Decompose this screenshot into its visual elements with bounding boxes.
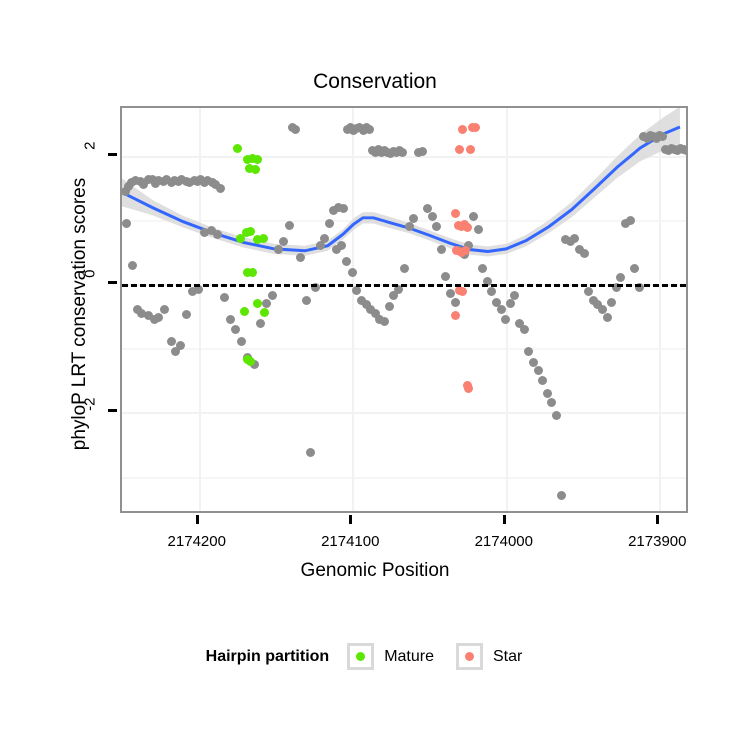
legend-dot-star	[465, 652, 474, 661]
y-axis-label: phyloP LRT conservation scores	[69, 104, 91, 524]
legend: Hairpin partition Mature Star	[0, 643, 750, 670]
data-point-other	[296, 253, 305, 262]
data-point-other	[630, 264, 639, 273]
data-point-other	[557, 491, 566, 500]
data-point-other	[320, 234, 329, 243]
data-point-mature	[240, 307, 249, 316]
data-point-mature	[259, 234, 268, 243]
data-point-star	[471, 123, 480, 132]
gridline-x-major	[199, 108, 201, 511]
x-tick-label: 2173900	[597, 533, 717, 550]
data-point-other	[478, 264, 487, 273]
data-point-other	[607, 298, 616, 307]
x-tick-mark	[196, 515, 199, 524]
y-tick-mark	[108, 281, 117, 284]
data-point-other	[285, 221, 294, 230]
data-point-other	[231, 325, 240, 334]
data-point-other	[418, 147, 427, 156]
data-point-other	[385, 302, 394, 311]
data-point-mature	[248, 268, 257, 277]
data-point-other	[268, 291, 277, 300]
y-tick-mark	[108, 153, 117, 156]
data-point-other	[543, 389, 552, 398]
zero-reference-line	[122, 284, 686, 287]
data-point-other	[487, 287, 496, 296]
data-point-other	[405, 222, 414, 231]
data-point-other	[262, 299, 271, 308]
data-point-star	[461, 246, 470, 255]
data-point-other	[339, 204, 348, 213]
data-point-other	[510, 291, 519, 300]
data-point-other	[474, 225, 483, 234]
data-point-other	[279, 237, 288, 246]
page-title: Conservation	[0, 70, 750, 94]
y-tick-mark	[108, 409, 117, 412]
data-point-star	[451, 209, 460, 218]
data-point-other	[213, 230, 222, 239]
legend-label-mature: Mature	[384, 648, 434, 666]
data-point-star	[458, 287, 467, 296]
gridline-x-major	[506, 108, 508, 511]
data-point-other	[122, 219, 131, 228]
data-point-other	[160, 305, 169, 314]
data-point-other	[437, 245, 446, 254]
data-point-other	[547, 398, 556, 407]
data-point-other	[167, 337, 176, 346]
data-point-mature	[253, 299, 262, 308]
data-point-other	[291, 125, 300, 134]
data-point-star	[463, 223, 472, 232]
y-tick-label: 0	[82, 270, 99, 294]
data-point-other	[154, 313, 163, 322]
data-point-star	[455, 145, 464, 154]
gridline-y-major	[122, 412, 686, 414]
data-point-other	[520, 325, 529, 334]
data-point-other	[451, 298, 460, 307]
data-point-other	[658, 132, 667, 141]
data-point-other	[580, 249, 589, 258]
gridline-y-minor	[122, 477, 686, 479]
data-point-other	[316, 241, 325, 250]
data-point-other	[552, 411, 561, 420]
data-point-star	[464, 384, 473, 393]
chart-root: Conservation phyloP LRT conservation sco…	[0, 0, 750, 750]
data-point-other	[570, 234, 579, 243]
data-point-other	[616, 273, 625, 282]
y-tick-label: 2	[82, 142, 99, 166]
gridline-y-minor	[122, 348, 686, 350]
gridline-y-minor	[122, 220, 686, 222]
data-point-other	[603, 313, 612, 322]
data-point-other	[128, 261, 137, 270]
data-point-other	[501, 315, 510, 324]
data-point-other	[348, 268, 357, 277]
y-tick-label: -2	[82, 398, 99, 422]
x-tick-label: 2174000	[444, 533, 564, 550]
data-point-other	[446, 289, 455, 298]
data-point-other	[524, 347, 533, 356]
data-point-other	[365, 125, 374, 134]
data-point-other	[352, 286, 361, 295]
gridline-x-major	[659, 108, 661, 511]
data-point-other	[380, 317, 389, 326]
x-tick-mark	[349, 515, 352, 524]
data-point-other	[256, 319, 265, 328]
data-point-mature	[251, 165, 260, 174]
x-tick-mark	[656, 515, 659, 524]
plot-panel	[120, 106, 688, 513]
gridline-x-major	[352, 108, 354, 511]
data-point-other	[400, 264, 409, 273]
legend-dot-mature	[356, 652, 365, 661]
data-point-other	[682, 146, 688, 155]
data-point-other	[337, 241, 346, 250]
data-point-other	[302, 296, 311, 305]
data-point-other	[237, 337, 246, 346]
data-point-other	[226, 315, 235, 324]
data-point-other	[534, 366, 543, 375]
data-point-other	[216, 184, 225, 193]
legend-key-mature[interactable]	[347, 643, 374, 670]
data-point-other	[306, 448, 315, 457]
x-axis-label: Genomic Position	[0, 560, 750, 582]
x-tick-label: 2174100	[290, 533, 410, 550]
data-point-mature	[253, 155, 262, 164]
data-point-other	[342, 257, 351, 266]
legend-key-star[interactable]	[456, 643, 483, 670]
data-point-other	[182, 310, 191, 319]
data-point-other	[506, 299, 515, 308]
legend-label-star: Star	[493, 648, 522, 666]
data-point-other	[432, 222, 441, 231]
x-tick-label: 2174200	[137, 533, 257, 550]
data-point-other	[176, 341, 185, 350]
data-point-other	[441, 272, 450, 281]
data-point-star	[451, 311, 460, 320]
data-point-star	[466, 145, 475, 154]
data-point-other	[325, 219, 334, 228]
data-point-mature	[260, 308, 269, 317]
legend-title: Hairpin partition	[206, 648, 330, 666]
data-point-mature	[233, 144, 242, 153]
data-point-star	[458, 125, 467, 134]
data-point-other	[497, 305, 506, 314]
data-point-other	[538, 376, 547, 385]
data-point-other	[220, 293, 229, 302]
data-point-other	[626, 216, 635, 225]
x-tick-mark	[503, 515, 506, 524]
